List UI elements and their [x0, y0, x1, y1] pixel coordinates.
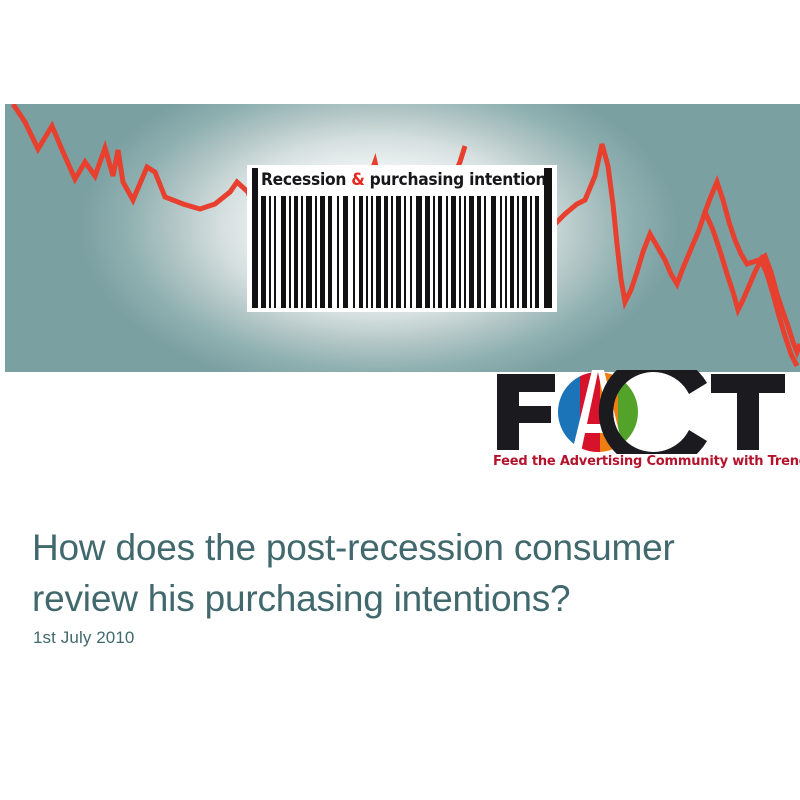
barcode-bar: [500, 196, 502, 308]
barcode-bar: [289, 196, 291, 308]
trendline-tail: [705, 212, 797, 366]
barcode-bar: [459, 196, 461, 308]
page-title: How does the post-recession consumer rev…: [32, 522, 762, 624]
barcode-graphic: Recession & purchasing intention: [247, 165, 557, 312]
barcode-bar: [477, 196, 481, 308]
barcode-bar: [410, 196, 412, 308]
barcode-bar: [343, 196, 348, 308]
barcode-caption-ampersand: &: [351, 170, 364, 189]
barcode-bar: [366, 196, 368, 308]
barcode-bar: [535, 196, 539, 308]
trendline-right: [553, 144, 800, 352]
barcode-bar: [522, 196, 527, 308]
recession-banner-image: Recession & purchasing intention: [5, 104, 800, 372]
barcode-bar: [510, 196, 514, 308]
barcode-caption: Recession & purchasing intention: [261, 168, 526, 192]
barcode-caption-part2: purchasing intention: [364, 170, 546, 189]
barcode-guard-right: [544, 168, 552, 308]
barcode-bar: [484, 196, 486, 308]
barcode-bar: [371, 196, 373, 308]
logo-letter-f: [497, 374, 555, 450]
barcode-bar: [517, 196, 519, 308]
barcode-bar: [446, 196, 448, 308]
barcode-bar: [376, 196, 381, 308]
barcode-bar: [359, 196, 363, 308]
barcode-bar: [315, 196, 317, 308]
slide-canvas: Recession & purchasing intention: [0, 0, 800, 800]
barcode-bar: [353, 196, 355, 308]
barcode-bar: [269, 196, 271, 308]
barcode-bar: [301, 196, 303, 308]
barcode-bar: [464, 196, 466, 308]
barcode-bar: [306, 196, 312, 308]
barcode-guard-left: [252, 168, 258, 308]
barcode-bar: [505, 196, 507, 308]
barcode-bar: [328, 196, 332, 308]
barcode-bars: [261, 196, 543, 308]
barcode-bar: [320, 196, 325, 308]
fact-logo: Feed the Advertising Community with Tren…: [493, 370, 793, 478]
page-title-line-1: How does the post-recession consumer: [32, 522, 762, 573]
barcode-bar: [416, 196, 422, 308]
barcode-bar: [396, 196, 401, 308]
barcode-bar: [391, 196, 393, 308]
barcode-bar: [294, 196, 298, 308]
barcode-bar: [281, 196, 286, 308]
barcode-bar: [433, 196, 435, 308]
barcode-bar: [438, 196, 442, 308]
fact-wordmark: [493, 370, 793, 454]
fact-logo-tagline: Feed the Advertising Community with Tren…: [493, 454, 793, 469]
barcode-bar: [384, 196, 388, 308]
barcode-caption-part1: Recession: [261, 170, 351, 189]
barcode-bar: [261, 196, 266, 308]
barcode-bar: [274, 196, 276, 308]
barcode-bar: [469, 196, 474, 308]
barcode-bar: [425, 196, 430, 308]
barcode-bar: [491, 196, 496, 308]
barcode-bar: [530, 196, 532, 308]
barcode-bar: [337, 196, 339, 308]
page-title-line-2: review his purchasing intentions?: [32, 573, 762, 624]
barcode-bar: [451, 196, 456, 308]
barcode-bar: [404, 196, 406, 308]
page-date: 1st July 2010: [33, 628, 134, 648]
logo-letter-t: [711, 374, 785, 450]
